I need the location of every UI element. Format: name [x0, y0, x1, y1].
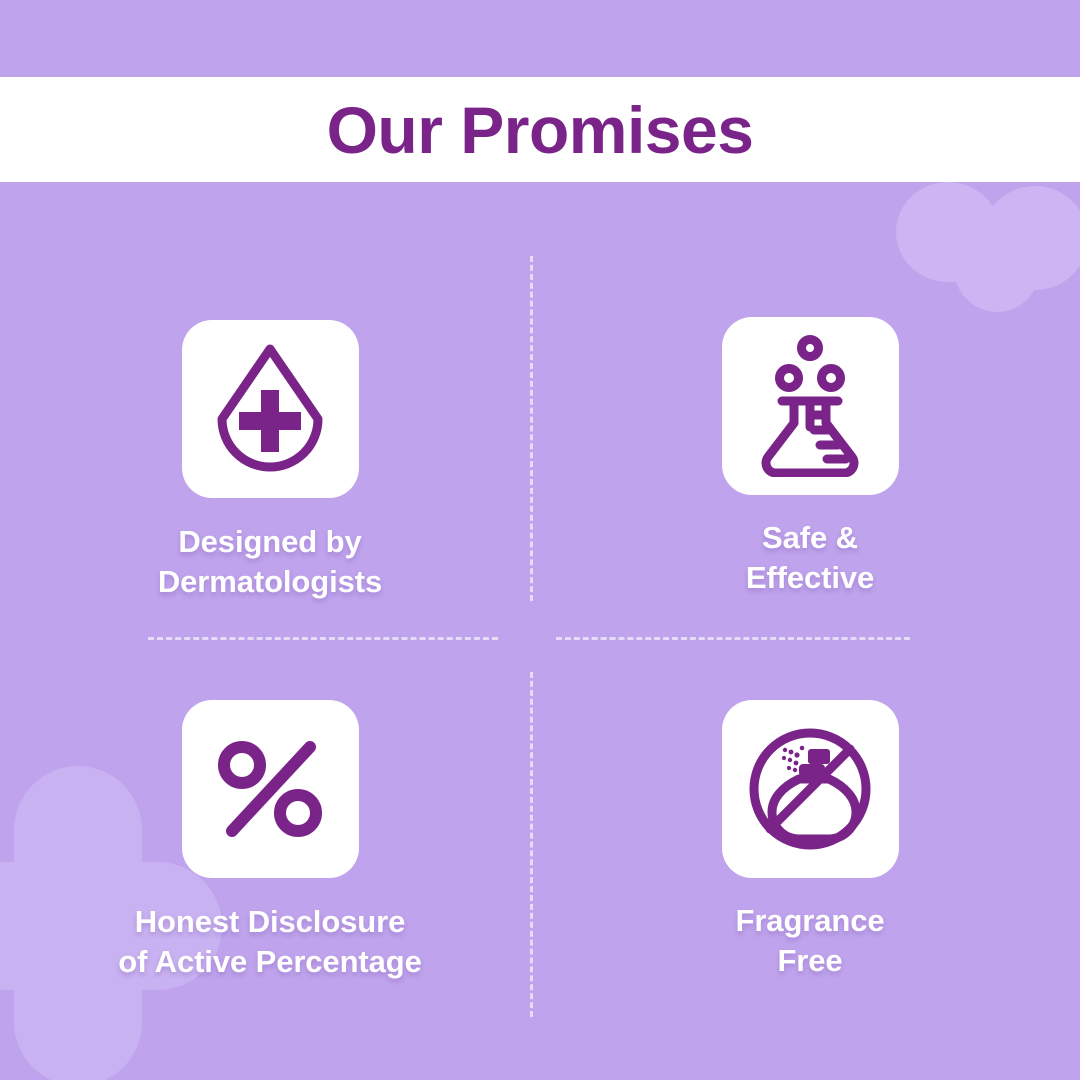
no-perfume-icon	[745, 724, 875, 854]
promise-label: Honest Disclosure of Active Percentage	[118, 902, 422, 981]
vertical-divider-bottom	[530, 672, 533, 1017]
promises-grid: Designed by Dermatologists Safe &	[0, 182, 1080, 1080]
promise-icon-card	[182, 320, 359, 498]
horizontal-divider-right	[556, 637, 910, 640]
promise-item-designed-by-dermatologists: Designed by Dermatologists	[0, 182, 540, 631]
promise-item-fragrance-free: Fragrance Free	[540, 631, 1080, 1080]
promise-icon-card	[182, 700, 359, 878]
promise-label: Designed by Dermatologists	[158, 522, 382, 601]
percent-icon	[215, 739, 325, 839]
promise-label: Safe & Effective	[746, 518, 874, 597]
promise-label: Fragrance Free	[736, 901, 885, 980]
horizontal-divider-left	[148, 637, 498, 640]
lab-flask-icon	[748, 335, 872, 477]
promise-item-safe-and-effective: Safe & Effective	[540, 182, 1080, 631]
promise-icon-card	[722, 317, 899, 495]
vertical-divider-top	[530, 256, 533, 601]
droplet-medical-cross-icon	[206, 342, 334, 476]
title-band: Our Promises	[0, 77, 1080, 182]
promise-item-honest-disclosure: Honest Disclosure of Active Percentage	[0, 631, 540, 1080]
promise-icon-card	[722, 700, 899, 878]
page-title: Our Promises	[327, 97, 754, 163]
